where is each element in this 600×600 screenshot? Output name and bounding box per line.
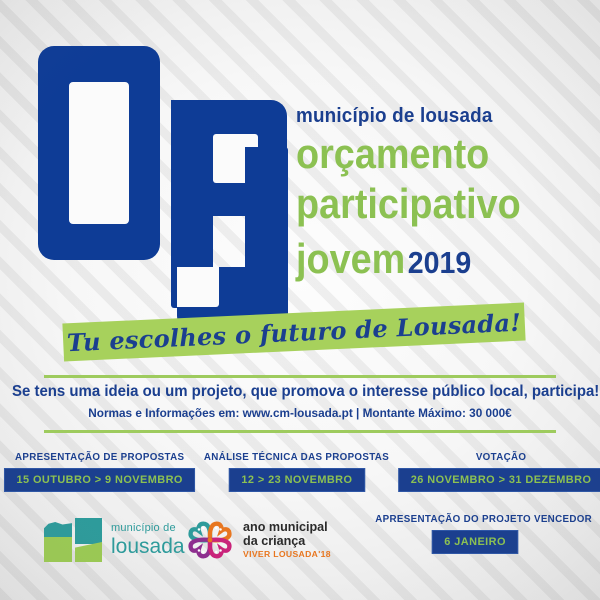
- opj-logo: [38, 42, 293, 322]
- phase-title: APRESENTAÇÃO DE PROPOSTAS: [5, 452, 194, 463]
- divider-top: [44, 375, 556, 378]
- lousada-logo-line1: município de: [111, 523, 185, 534]
- lousada-crest-icon: [44, 518, 102, 562]
- crianca-logo-line3: VIVER LOUSADA'18: [243, 550, 331, 560]
- info-line-1: Se tens uma ideia ou um projeto, que pro…: [12, 383, 588, 401]
- headline-line-participativo: participativo: [296, 184, 566, 224]
- ano-municipal-crianca-logo: ano municipal da criança VIVER LOUSADA'1…: [186, 516, 331, 564]
- phase-item: ANÁLISE TÉCNICA DAS PROPOSTAS 12 > 23 NO…: [199, 452, 394, 492]
- phase-title: ANÁLISE TÉCNICA DAS PROPOSTAS: [204, 452, 389, 463]
- phases-row: APRESENTAÇÃO DE PROPOSTAS 15 OUTUBRO > 9…: [0, 452, 600, 492]
- divider-bottom: [44, 430, 556, 433]
- logo-letter-j-stem: [245, 147, 288, 332]
- four-hearts-icon: [186, 516, 234, 564]
- headline-line-orcamento: orçamento: [296, 134, 566, 174]
- info-line-2: Normas e Informações em: www.cm-lousada.…: [15, 406, 585, 420]
- phase-date-badge: 26 NOVEMBRO > 31 DEZEMBRO: [399, 468, 600, 492]
- logo-letter-j-notch: [177, 267, 219, 307]
- headline-kicker: município de lousada: [296, 104, 572, 128]
- municipio-lousada-logo: município de lousada: [44, 518, 185, 562]
- headline-year: 2019: [408, 245, 471, 281]
- crianca-logo-line1: ano municipal: [243, 520, 331, 534]
- headline-block: município de lousada orçamento participa…: [296, 104, 596, 283]
- winner-date-badge: 6 JANEIRO: [432, 530, 519, 554]
- logo-letter-o-counter: [69, 82, 129, 224]
- winner-phase-title: APRESENTAÇÃO DO PROJETO VENCEDOR: [375, 514, 575, 525]
- poster-canvas: município de lousada orçamento participa…: [0, 0, 600, 600]
- phase-title: VOTAÇÃO: [400, 452, 600, 463]
- winner-phase-item: APRESENTAÇÃO DO PROJETO VENCEDOR 6 JANEI…: [370, 514, 580, 554]
- phase-date-badge: 15 OUTUBRO > 9 NOVEMBRO: [4, 468, 195, 492]
- phase-item: APRESENTAÇÃO DE PROPOSTAS 15 OUTUBRO > 9…: [0, 452, 199, 492]
- headline-line-jovem-row: jovem 2019: [296, 235, 596, 283]
- phase-date-badge: 12 > 23 NOVEMBRO: [229, 468, 365, 492]
- footer-row: município de lousada: [0, 512, 600, 582]
- headline-line-jovem: jovem: [296, 235, 405, 283]
- lousada-logo-line2: lousada: [111, 536, 185, 557]
- phase-item: VOTAÇÃO 26 NOVEMBRO > 31 DEZEMBRO: [394, 452, 600, 492]
- crianca-logo-line2: da criança: [243, 534, 331, 548]
